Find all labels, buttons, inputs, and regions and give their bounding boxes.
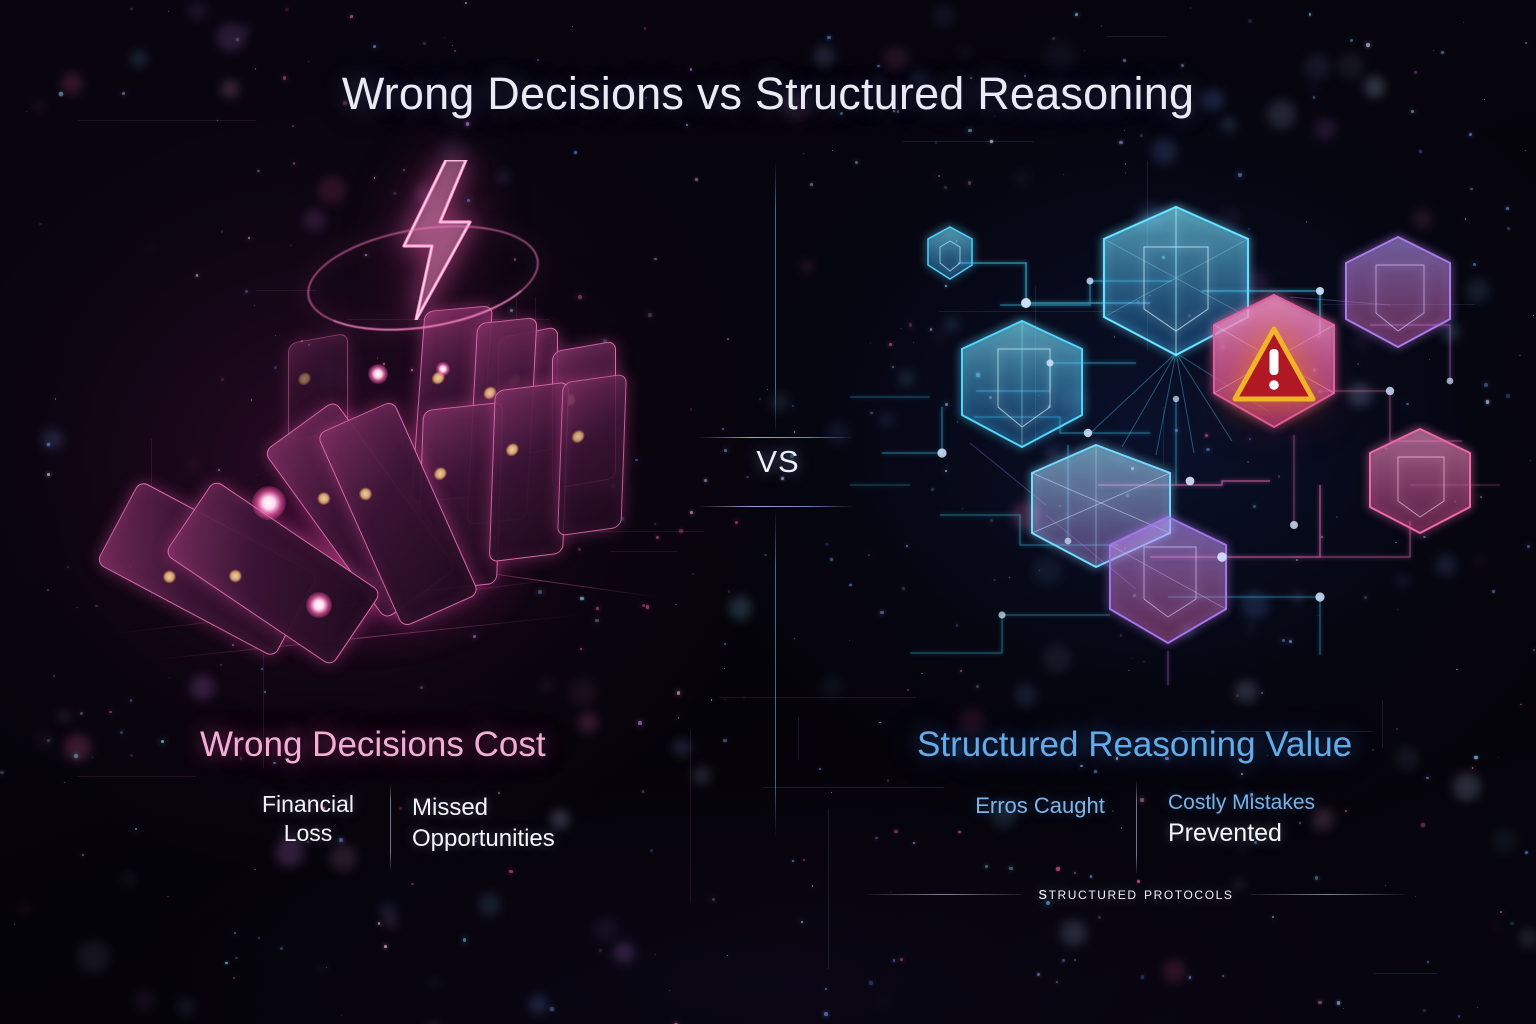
domino-tile	[557, 374, 627, 537]
star-particle	[678, 717, 679, 718]
infographic-canvas: Wrong Decisions vs Structured Reasoning	[0, 0, 1536, 1024]
star-particle	[1090, 875, 1093, 878]
center-divider-tick-top	[700, 437, 852, 438]
star-particle	[74, 754, 78, 758]
star-particle	[463, 938, 467, 942]
star-particle	[1241, 773, 1243, 775]
star-particle	[1074, 872, 1076, 874]
star-particle	[677, 691, 680, 694]
star-particle	[722, 428, 724, 430]
star-particle	[1474, 756, 1477, 759]
left-stat-missed-opportunities: Missed Opportunities	[412, 793, 622, 854]
star-particle	[724, 668, 725, 669]
page-title: Wrong Decisions vs Structured Reasoning	[0, 68, 1536, 120]
star-particle	[1525, 42, 1527, 44]
right-panel-heading: Structured Reasoning Value	[917, 725, 1352, 765]
star-particle	[1421, 823, 1425, 827]
star-particle	[411, 883, 414, 886]
star-particle	[900, 958, 903, 961]
star-particle	[537, 59, 539, 61]
star-particle	[135, 828, 137, 830]
crystal-node-bottom	[1110, 517, 1226, 643]
star-particle	[1140, 134, 1143, 137]
bokeh-particle	[22, 906, 28, 912]
star-particle	[938, 175, 940, 177]
star-particle	[420, 686, 423, 689]
right-stat-errors-line1: Erros Caught	[960, 792, 1120, 820]
star-particle	[1101, 25, 1102, 26]
star-particle	[444, 37, 446, 39]
bokeh-particle	[379, 902, 396, 919]
structured-reasoning-illustration	[850, 185, 1500, 690]
star-particle	[1419, 150, 1422, 153]
bokeh-particle	[594, 918, 618, 942]
star-particle	[642, 790, 644, 792]
left-panel-heading: Wrong Decisions Cost	[200, 725, 546, 765]
star-particle	[1098, 916, 1101, 919]
star-particle	[384, 945, 387, 948]
star-particle	[373, 45, 376, 48]
bokeh-particle	[1519, 928, 1536, 948]
star-particle	[1463, 22, 1464, 23]
star-particle	[810, 183, 813, 186]
star-particle	[280, 947, 283, 950]
protocols-label: Structured Protocols	[1038, 884, 1233, 904]
star-particle	[378, 922, 380, 924]
star-particle	[308, 61, 309, 62]
background-circuit-line	[828, 809, 829, 969]
star-particle	[830, 558, 833, 561]
star-particle	[1315, 876, 1319, 880]
structured-protocols-footer: Structured Protocols	[866, 884, 1406, 904]
star-particle	[509, 870, 512, 873]
bokeh-particle	[1016, 171, 1029, 184]
star-particle	[1366, 43, 1370, 47]
star-particle	[167, 896, 168, 897]
star-particle	[711, 699, 713, 701]
star-particle	[801, 921, 803, 923]
star-particle	[1309, 13, 1312, 16]
left-stat-financial-loss: Financial Loss	[228, 790, 388, 849]
bokeh-particle	[541, 680, 553, 692]
bokeh-particle	[478, 893, 501, 916]
star-particle	[990, 140, 992, 142]
star-particle	[1056, 867, 1059, 870]
bokeh-particle	[1314, 118, 1336, 140]
center-divider-line-bottom	[775, 508, 776, 838]
star-particle	[161, 740, 164, 743]
star-particle	[869, 981, 872, 984]
star-particle	[1261, 692, 1263, 694]
spark	[252, 486, 286, 520]
star-particle	[64, 782, 65, 783]
star-particle	[264, 691, 266, 693]
bokeh-particle	[933, 5, 955, 27]
bokeh-particle	[58, 710, 70, 722]
domino-tile	[489, 381, 569, 562]
left-stat-missed-line1: Missed	[412, 793, 622, 824]
background-circuit-line	[763, 787, 943, 788]
star-particle	[47, 589, 49, 591]
star-particle	[887, 779, 890, 782]
star-particle	[130, 754, 132, 756]
star-particle	[454, 50, 456, 52]
star-particle	[985, 865, 988, 868]
star-particle	[1372, 749, 1374, 751]
star-particle	[1125, 172, 1126, 173]
bokeh-particle	[814, 45, 836, 67]
background-circuit-line	[1382, 700, 1383, 748]
bokeh-particle	[131, 51, 146, 66]
star-particle	[1094, 770, 1097, 773]
star-particle	[794, 638, 795, 639]
star-particle	[968, 129, 972, 133]
bokeh-particle	[177, 998, 195, 1016]
center-divider-line-top	[775, 160, 776, 435]
left-stat-financial-line2: Loss	[228, 819, 388, 848]
vs-label: VS	[718, 444, 838, 480]
star-particle	[1498, 757, 1499, 758]
bokeh-particle	[880, 999, 888, 1007]
bokeh-particle	[134, 990, 155, 1011]
star-particle	[1415, 896, 1416, 897]
star-particle	[168, 11, 169, 12]
star-particle	[1272, 916, 1274, 918]
star-particle	[1062, 959, 1065, 962]
star-particle	[819, 768, 822, 771]
wrong-decisions-illustration	[120, 150, 720, 670]
star-particle	[1510, 922, 1514, 926]
bokeh-particle	[216, 23, 245, 52]
bokeh-particle	[822, 676, 843, 697]
left-stat-missed-line2: Opportunities	[412, 824, 622, 855]
star-particle	[130, 8, 133, 11]
star-particle	[812, 885, 813, 886]
star-particle	[1137, 880, 1139, 882]
background-circuit-line	[78, 120, 256, 121]
star-particle	[1084, 50, 1086, 52]
star-particle	[1248, 19, 1252, 23]
star-particle	[728, 590, 731, 593]
crystal-node-small	[928, 227, 972, 279]
left-stat-separator	[390, 782, 391, 872]
bokeh-particle	[692, 766, 711, 785]
star-particle	[1343, 1008, 1344, 1009]
star-particle	[67, 566, 69, 568]
star-particle	[764, 554, 766, 556]
star-particle	[723, 739, 726, 742]
star-particle	[1433, 50, 1434, 51]
bokeh-particle	[1060, 920, 1086, 946]
star-particle	[803, 153, 804, 154]
star-particle	[1477, 1007, 1478, 1008]
star-particle	[1458, 1015, 1460, 1017]
star-particle	[1441, 51, 1445, 55]
star-particle	[169, 677, 170, 678]
star-particle	[1140, 798, 1143, 801]
star-particle	[1530, 460, 1531, 461]
star-particle	[1209, 134, 1211, 136]
star-particle	[913, 842, 915, 844]
star-particle	[1527, 545, 1530, 548]
star-particle	[80, 712, 83, 715]
bokeh-particle	[673, 739, 690, 756]
star-particle	[1181, 64, 1184, 67]
star-particle	[233, 977, 235, 979]
star-particle	[1500, 911, 1502, 913]
star-particle	[1056, 981, 1058, 983]
star-particle	[767, 389, 768, 390]
bokeh-particle	[1152, 138, 1178, 164]
star-particle	[935, 141, 938, 144]
star-particle	[1121, 827, 1122, 828]
spark	[368, 364, 388, 384]
star-particle	[55, 398, 56, 399]
star-particle	[1396, 728, 1398, 730]
star-particle	[234, 932, 236, 934]
star-particle	[235, 957, 238, 960]
bokeh-particle	[827, 422, 849, 444]
star-particle	[92, 757, 93, 758]
star-particle	[1009, 867, 1012, 870]
star-particle	[1318, 1001, 1321, 1004]
background-circuit-line	[690, 730, 691, 903]
bokeh-particle	[431, 979, 439, 987]
bokeh-particle	[529, 995, 548, 1014]
star-particle	[1052, 37, 1055, 40]
star-particle	[875, 837, 877, 839]
star-particle	[39, 223, 41, 225]
star-particle	[1533, 315, 1535, 317]
background-circuit-line	[1374, 973, 1437, 974]
star-particle	[655, 954, 656, 955]
protocols-rule-right	[1250, 894, 1406, 895]
node-network-graphic	[850, 185, 1500, 690]
crystal-node-right	[1370, 429, 1470, 533]
spark	[436, 362, 450, 376]
star-particle	[1222, 975, 1224, 977]
bokeh-particle	[384, 915, 398, 929]
star-particle	[1123, 59, 1126, 62]
star-particle	[1080, 765, 1082, 767]
star-particle	[423, 42, 426, 45]
bokeh-particle	[802, 261, 812, 271]
bokeh-particle	[1163, 959, 1187, 983]
bokeh-particle	[1492, 828, 1518, 854]
star-particle	[759, 398, 761, 400]
star-particle	[1525, 851, 1528, 854]
background-circuit-line	[719, 697, 916, 698]
bokeh-particle	[318, 964, 325, 971]
star-particle	[877, 65, 880, 68]
star-particle	[1125, 163, 1126, 164]
star-particle	[341, 1015, 342, 1016]
right-stat-errors-caught: Erros Caught	[960, 792, 1120, 820]
star-particle	[1124, 130, 1125, 131]
bokeh-particle	[64, 734, 91, 761]
star-particle	[1337, 1001, 1340, 1004]
bokeh-particle	[78, 941, 110, 973]
star-particle	[825, 988, 827, 990]
star-particle	[724, 643, 726, 645]
bokeh-particle	[35, 731, 51, 747]
bokeh-particle	[1453, 773, 1480, 800]
star-particle	[831, 792, 832, 793]
star-particle	[1423, 1009, 1426, 1012]
star-particle	[727, 955, 728, 956]
star-particle	[855, 161, 858, 164]
crystal-node-left	[962, 321, 1082, 447]
star-particle	[803, 859, 805, 861]
star-particle	[47, 473, 50, 476]
star-particle	[686, 124, 689, 127]
star-particle	[894, 830, 897, 833]
bokeh-particle	[613, 942, 634, 963]
star-particle	[1506, 394, 1509, 397]
star-particle	[350, 15, 353, 18]
star-particle	[285, 8, 289, 12]
bokeh-particle	[960, 48, 971, 59]
background-circuit-line	[798, 717, 799, 761]
star-particle	[47, 443, 50, 446]
star-particle	[879, 722, 881, 724]
star-particle	[452, 45, 453, 46]
star-particle	[14, 924, 15, 925]
star-particle	[53, 675, 55, 677]
bokeh-particle	[1044, 39, 1075, 70]
bokeh-particle	[578, 712, 599, 733]
star-particle	[326, 967, 327, 968]
bokeh-particle	[123, 873, 134, 884]
star-particle	[292, 125, 294, 127]
bokeh-particle	[569, 679, 597, 707]
spark	[306, 592, 332, 618]
bokeh-particle	[188, 2, 206, 20]
star-particle	[650, 849, 653, 852]
right-stat-costly-line2: Prevented	[1168, 817, 1398, 849]
star-particle	[827, 36, 830, 39]
star-particle	[550, 1007, 554, 1011]
star-particle	[254, 869, 256, 871]
bokeh-particle	[1494, 922, 1501, 929]
star-particle	[572, 26, 573, 27]
star-particle	[225, 962, 227, 964]
star-particle	[1238, 173, 1242, 177]
star-particle	[893, 959, 895, 961]
star-particle	[1469, 133, 1472, 136]
star-particle	[638, 721, 642, 725]
bokeh-particle	[190, 675, 215, 700]
bokeh-particle	[770, 393, 789, 412]
background-circuit-line	[77, 776, 196, 777]
star-particle	[1190, 7, 1192, 9]
star-particle	[1519, 355, 1520, 356]
star-particle	[724, 699, 726, 701]
star-particle	[1037, 973, 1040, 976]
bokeh-particle	[729, 596, 753, 620]
star-particle	[109, 711, 112, 714]
protocols-rule-left	[866, 894, 1022, 895]
star-particle	[644, 27, 646, 29]
star-particle	[130, 699, 132, 701]
background-circuit-line	[903, 141, 1032, 142]
star-particle	[1506, 207, 1509, 210]
star-particle	[1427, 961, 1429, 963]
star-particle	[794, 431, 795, 432]
star-particle	[1520, 704, 1521, 705]
star-particle	[258, 937, 260, 939]
star-particle	[727, 338, 729, 340]
star-particle	[76, 607, 77, 608]
crystal-node-top-right	[1346, 237, 1450, 347]
star-particle	[824, 1012, 828, 1016]
right-stat-costly-mistakes: Costly Mistakes Prevented	[1168, 790, 1398, 849]
star-particle	[832, 150, 834, 152]
star-particle	[1141, 975, 1144, 978]
star-particle	[712, 898, 715, 901]
warning-triangle-icon	[1232, 325, 1316, 403]
star-particle	[1472, 767, 1473, 768]
bokeh-particle	[1395, 746, 1419, 770]
star-particle	[47, 739, 50, 742]
star-particle	[825, 543, 829, 547]
star-particle	[1074, 959, 1076, 961]
star-particle	[399, 807, 402, 810]
star-particle	[599, 949, 603, 953]
left-stat-financial-line1: Financial	[228, 790, 388, 819]
star-particle	[82, 854, 84, 856]
star-particle	[1533, 649, 1535, 651]
star-particle	[1507, 227, 1510, 230]
center-divider-tick-bottom	[700, 506, 852, 507]
star-particle	[1063, 174, 1064, 175]
star-particle	[466, 122, 469, 125]
bokeh-particle	[42, 429, 63, 450]
star-particle	[1426, 777, 1429, 780]
star-particle	[0, 771, 3, 774]
star-particle	[1350, 39, 1353, 42]
star-particle	[792, 405, 795, 408]
star-particle	[958, 831, 961, 834]
star-particle	[1119, 141, 1122, 144]
star-particle	[236, 38, 239, 41]
star-particle	[1525, 150, 1526, 151]
star-particle	[465, 2, 467, 4]
bokeh-particle	[240, 24, 251, 35]
star-particle	[792, 860, 794, 862]
right-stat-separator	[1136, 780, 1137, 876]
star-particle	[1189, 976, 1192, 979]
star-particle	[743, 698, 745, 700]
star-particle	[735, 521, 738, 524]
star-particle	[120, 731, 123, 734]
star-particle	[95, 605, 97, 607]
star-particle	[669, 990, 670, 991]
star-particle	[1236, 694, 1239, 697]
star-particle	[1075, 13, 1078, 16]
right-stat-costly-line1: Costly Mistakes	[1168, 790, 1398, 817]
background-circuit-line	[1106, 36, 1168, 37]
